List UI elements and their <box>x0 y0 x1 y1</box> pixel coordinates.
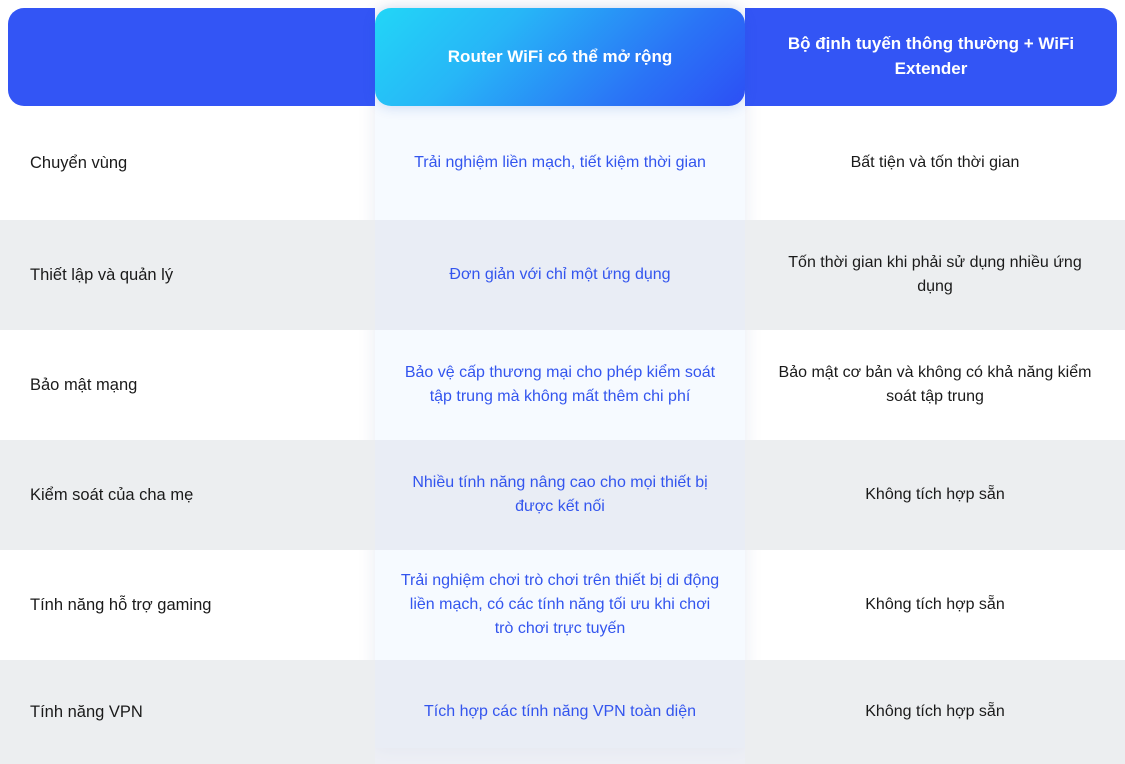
feature-label: Tính năng hỗ trợ gaming <box>30 593 211 618</box>
highlight-value: Tích hợp các tính năng VPN toàn diện <box>424 700 696 724</box>
header-highlight-label: Router WiFi có thể mở rộng <box>448 45 672 70</box>
standard-value: Không tích hợp sẵn <box>865 700 1004 724</box>
table-row: Tính năng hỗ trợ gaming Trải nghiệm chơi… <box>0 550 1125 660</box>
feature-label: Kiểm soát của cha mẹ <box>30 483 193 508</box>
row-feature-cell: Bảo mật mạng <box>0 330 375 440</box>
header-cell-scalable-router: Router WiFi có thể mở rộng <box>375 8 745 106</box>
row-feature-cell: Thiết lập và quản lý <box>0 220 375 330</box>
table-body: Chuyển vùng Trải nghiệm liền mạch, tiết … <box>0 106 1125 764</box>
standard-value: Không tích hợp sẵn <box>865 483 1004 507</box>
row-standard-cell: Bảo mật cơ bản và không có khả năng kiểm… <box>745 330 1125 440</box>
row-highlight-cell: Tích hợp các tính năng VPN toàn diện <box>375 660 745 764</box>
row-feature-cell: Chuyển vùng <box>0 106 375 220</box>
row-feature-cell: Tính năng hỗ trợ gaming <box>0 550 375 660</box>
row-highlight-cell: Đơn giản với chỉ một ứng dụng <box>375 220 745 330</box>
highlight-value: Trải nghiệm chơi trò chơi trên thiết bị … <box>399 569 721 641</box>
table-row: Tính năng VPN Tích hợp các tính năng VPN… <box>0 660 1125 764</box>
highlight-value: Đơn giản với chỉ một ứng dụng <box>449 263 670 287</box>
row-highlight-cell: Trải nghiệm chơi trò chơi trên thiết bị … <box>375 550 745 660</box>
row-feature-cell: Kiểm soát của cha mẹ <box>0 440 375 550</box>
feature-label: Bảo mật mạng <box>30 373 137 398</box>
header-cell-feature <box>8 8 375 106</box>
header-standard-label: Bộ định tuyến thông thường + WiFi Extend… <box>763 32 1099 81</box>
header-cell-standard-router: Bộ định tuyến thông thường + WiFi Extend… <box>745 8 1117 106</box>
row-standard-cell: Không tích hợp sẵn <box>745 660 1125 764</box>
standard-value: Tốn thời gian khi phải sử dụng nhiều ứng… <box>769 251 1101 299</box>
comparison-table: Router WiFi có thể mở rộng Bộ định tuyến… <box>0 0 1125 758</box>
feature-label: Tính năng VPN <box>30 700 143 725</box>
standard-value: Bảo mật cơ bản và không có khả năng kiểm… <box>769 361 1101 409</box>
row-highlight-cell: Trải nghiệm liền mạch, tiết kiệm thời gi… <box>375 106 745 220</box>
row-standard-cell: Tốn thời gian khi phải sử dụng nhiều ứng… <box>745 220 1125 330</box>
table-row: Thiết lập và quản lý Đơn giản với chỉ mộ… <box>0 220 1125 330</box>
feature-label: Chuyển vùng <box>30 151 127 176</box>
row-highlight-cell: Bảo vệ cấp thương mại cho phép kiểm soát… <box>375 330 745 440</box>
table-row: Chuyển vùng Trải nghiệm liền mạch, tiết … <box>0 106 1125 220</box>
table-header-row: Router WiFi có thể mở rộng Bộ định tuyến… <box>8 8 1117 106</box>
table-row: Bảo mật mạng Bảo vệ cấp thương mại cho p… <box>0 330 1125 440</box>
standard-value: Bất tiện và tốn thời gian <box>851 151 1020 175</box>
row-highlight-cell: Nhiều tính năng nâng cao cho mọi thiết b… <box>375 440 745 550</box>
standard-value: Không tích hợp sẵn <box>865 593 1004 617</box>
row-standard-cell: Không tích hợp sẵn <box>745 440 1125 550</box>
highlight-value: Nhiều tính năng nâng cao cho mọi thiết b… <box>399 471 721 519</box>
row-standard-cell: Không tích hợp sẵn <box>745 550 1125 660</box>
row-standard-cell: Bất tiện và tốn thời gian <box>745 106 1125 220</box>
feature-label: Thiết lập và quản lý <box>30 263 173 288</box>
highlight-value: Trải nghiệm liền mạch, tiết kiệm thời gi… <box>414 151 706 175</box>
highlight-value: Bảo vệ cấp thương mại cho phép kiểm soát… <box>399 361 721 409</box>
table-row: Kiểm soát của cha mẹ Nhiều tính năng nân… <box>0 440 1125 550</box>
row-feature-cell: Tính năng VPN <box>0 660 375 764</box>
